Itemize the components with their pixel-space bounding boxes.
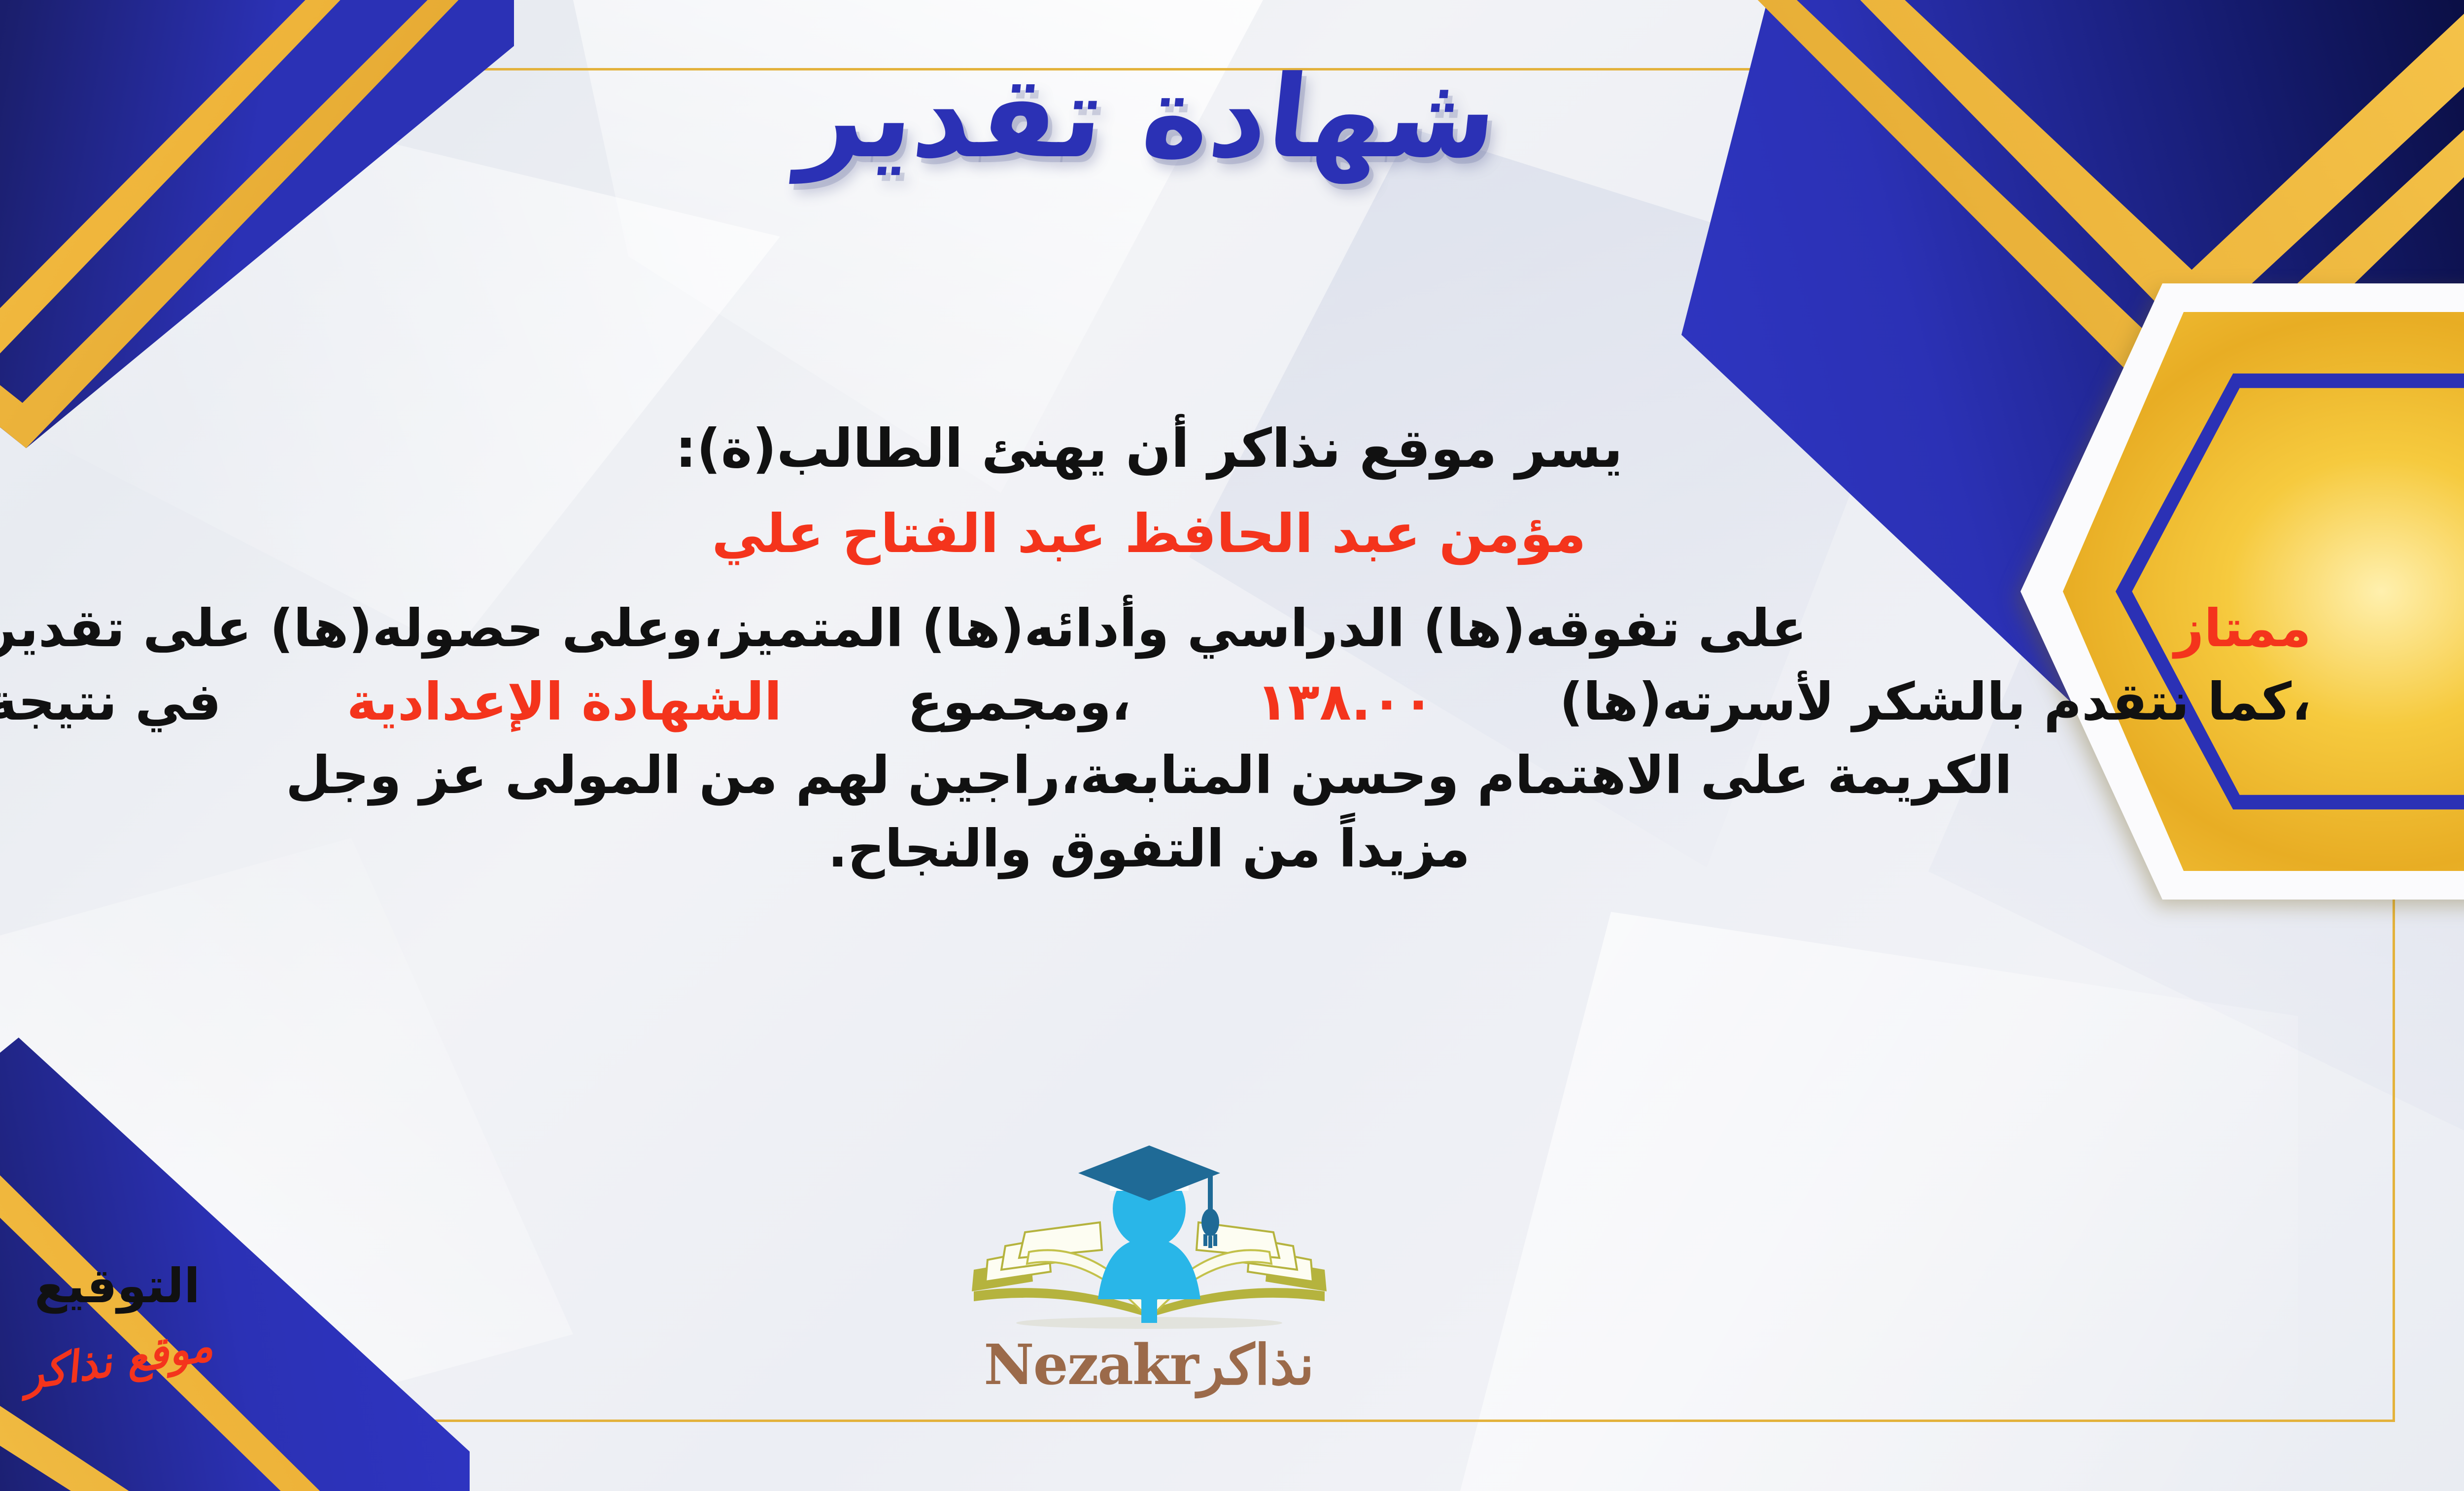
certificate-page: شهادة تقدير يسر موقع نذاكر أن يهنئ الطال… [0,0,2464,1491]
intro-line: يسر موقع نذاكر أن يهنئ الطالب(ة): [0,414,2311,485]
background-facet [0,838,573,1491]
graduate-book-logo-icon [962,1144,1336,1336]
exam-name: الشهادة الإعدادية [347,665,782,739]
signature-label: التوقيع [0,1258,275,1314]
signature-mark: موقع نذاكر [19,1320,216,1400]
body-line-3-text: على تفوقه(ها) الدراسي وأدائه(ها) المتميز… [0,592,1807,665]
student-name: مؤمن عبد الحافظ عبد الفتاح علي [0,499,2311,570]
body-line-4: ،كما نتقدم بالشكر لأسرته(ها) ١٣٨.٠٠ ،ومج… [0,665,2311,739]
body-line-3: ممتاز على تفوقه(ها) الدراسي وأدائه(ها) ا… [0,592,2311,665]
body-paragraph: ممتاز على تفوقه(ها) الدراسي وأدائه(ها) ا… [0,592,2311,886]
total-score: ١٣٨.٠٠ [1257,665,1434,739]
corner-ornament-bottom-left [0,939,553,1491]
body-line-6: مزيداً من التفوق والنجاح. [0,812,2311,886]
logo-wordmark: نذاكرNezakr [962,1333,1336,1397]
signature-area: التوقيع موقع نذاكر [0,1258,275,1385]
body-line-4-tail: ،كما نتقدم بالشكر لأسرته(ها) [1560,665,2311,739]
body-line-5: الكريمة على الاهتمام وحسن المتابعة،راجين… [0,739,2311,812]
logo-text-latin: Nezakr [984,1333,1198,1397]
certificate-title: شهادة تقدير [793,47,1505,189]
background-facet [1460,912,2298,1491]
body-line-4-mid: ،ومجموع [907,665,1131,739]
grade-value: ممتاز [2174,592,2311,665]
title-container: شهادة تقدير [0,47,2464,189]
site-logo: نذاكرNezakr [962,1144,1336,1397]
certificate-body: يسر موقع نذاكر أن يهنئ الطالب(ة): مؤمن ع… [0,414,2311,886]
body-line-4-head: في نتيجة [0,665,221,739]
logo-text-arabic: نذاكر [1198,1333,1314,1397]
